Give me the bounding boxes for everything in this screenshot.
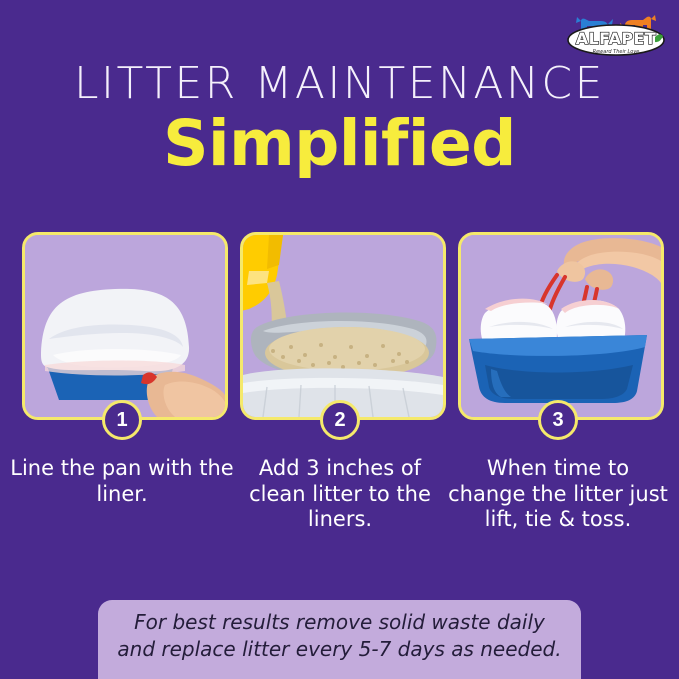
step-image-3: [458, 232, 664, 420]
step-caption-3: When time to change the litter just lift…: [446, 456, 670, 533]
page-title: LITTER MAINTENANCE Simplified: [0, 62, 679, 177]
footer-note: For best results remove solid waste dail…: [98, 600, 581, 679]
scene-line-the-pan: [25, 235, 225, 417]
footer-note-text: For best results remove solid waste dail…: [114, 609, 565, 663]
step-badge-2: 2: [320, 400, 360, 440]
logo-wordmark: ALFAPET: [576, 29, 656, 48]
step-caption-1: Line the pan with the liner.: [10, 456, 234, 507]
headline-line-1: LITTER MAINTENANCE: [0, 62, 679, 107]
step-badge-1: 1: [102, 400, 142, 440]
alfapet-logo: ALFAPET Reward Their Love: [563, 10, 669, 60]
headline-line-2: Simplified: [0, 111, 679, 177]
step-image-2: [240, 232, 446, 420]
steps-gallery: [0, 232, 679, 420]
poster-canvas: ALFAPET Reward Their Love LITTER MAINTEN…: [0, 0, 679, 679]
scene-lift-tie-toss: [461, 235, 661, 417]
step-badge-3: 3: [538, 400, 578, 440]
scene-add-litter: [243, 235, 443, 417]
step-image-1: [22, 232, 228, 420]
logo-tagline: Reward Their Love: [593, 49, 640, 55]
step-caption-2: Add 3 inches of clean litter to the line…: [228, 456, 452, 533]
